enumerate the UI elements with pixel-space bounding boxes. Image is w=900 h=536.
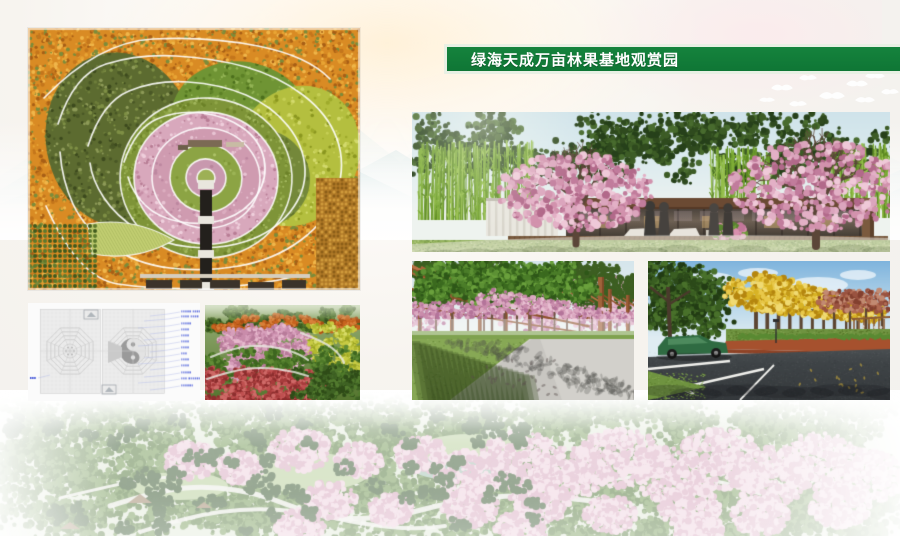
pavilion-rendering-main[interactable]: [412, 112, 890, 252]
cad-technical-drawing[interactable]: [28, 303, 200, 401]
title-banner: 绿海天成万亩林果基地观赏园: [444, 44, 900, 74]
parking-road-rendering[interactable]: [648, 261, 890, 400]
aerial-panorama-watermark: [0, 390, 900, 536]
landscape-masterplan-drawing[interactable]: [28, 28, 360, 290]
page-title: 绿海天成万亩林果基地观赏园: [471, 49, 679, 70]
pergola-walkway-rendering[interactable]: [412, 261, 634, 400]
aerial-rendering-thumbnail[interactable]: [205, 305, 360, 400]
presentation-board: 绿海天成万亩林果基地观赏园: [0, 0, 900, 536]
